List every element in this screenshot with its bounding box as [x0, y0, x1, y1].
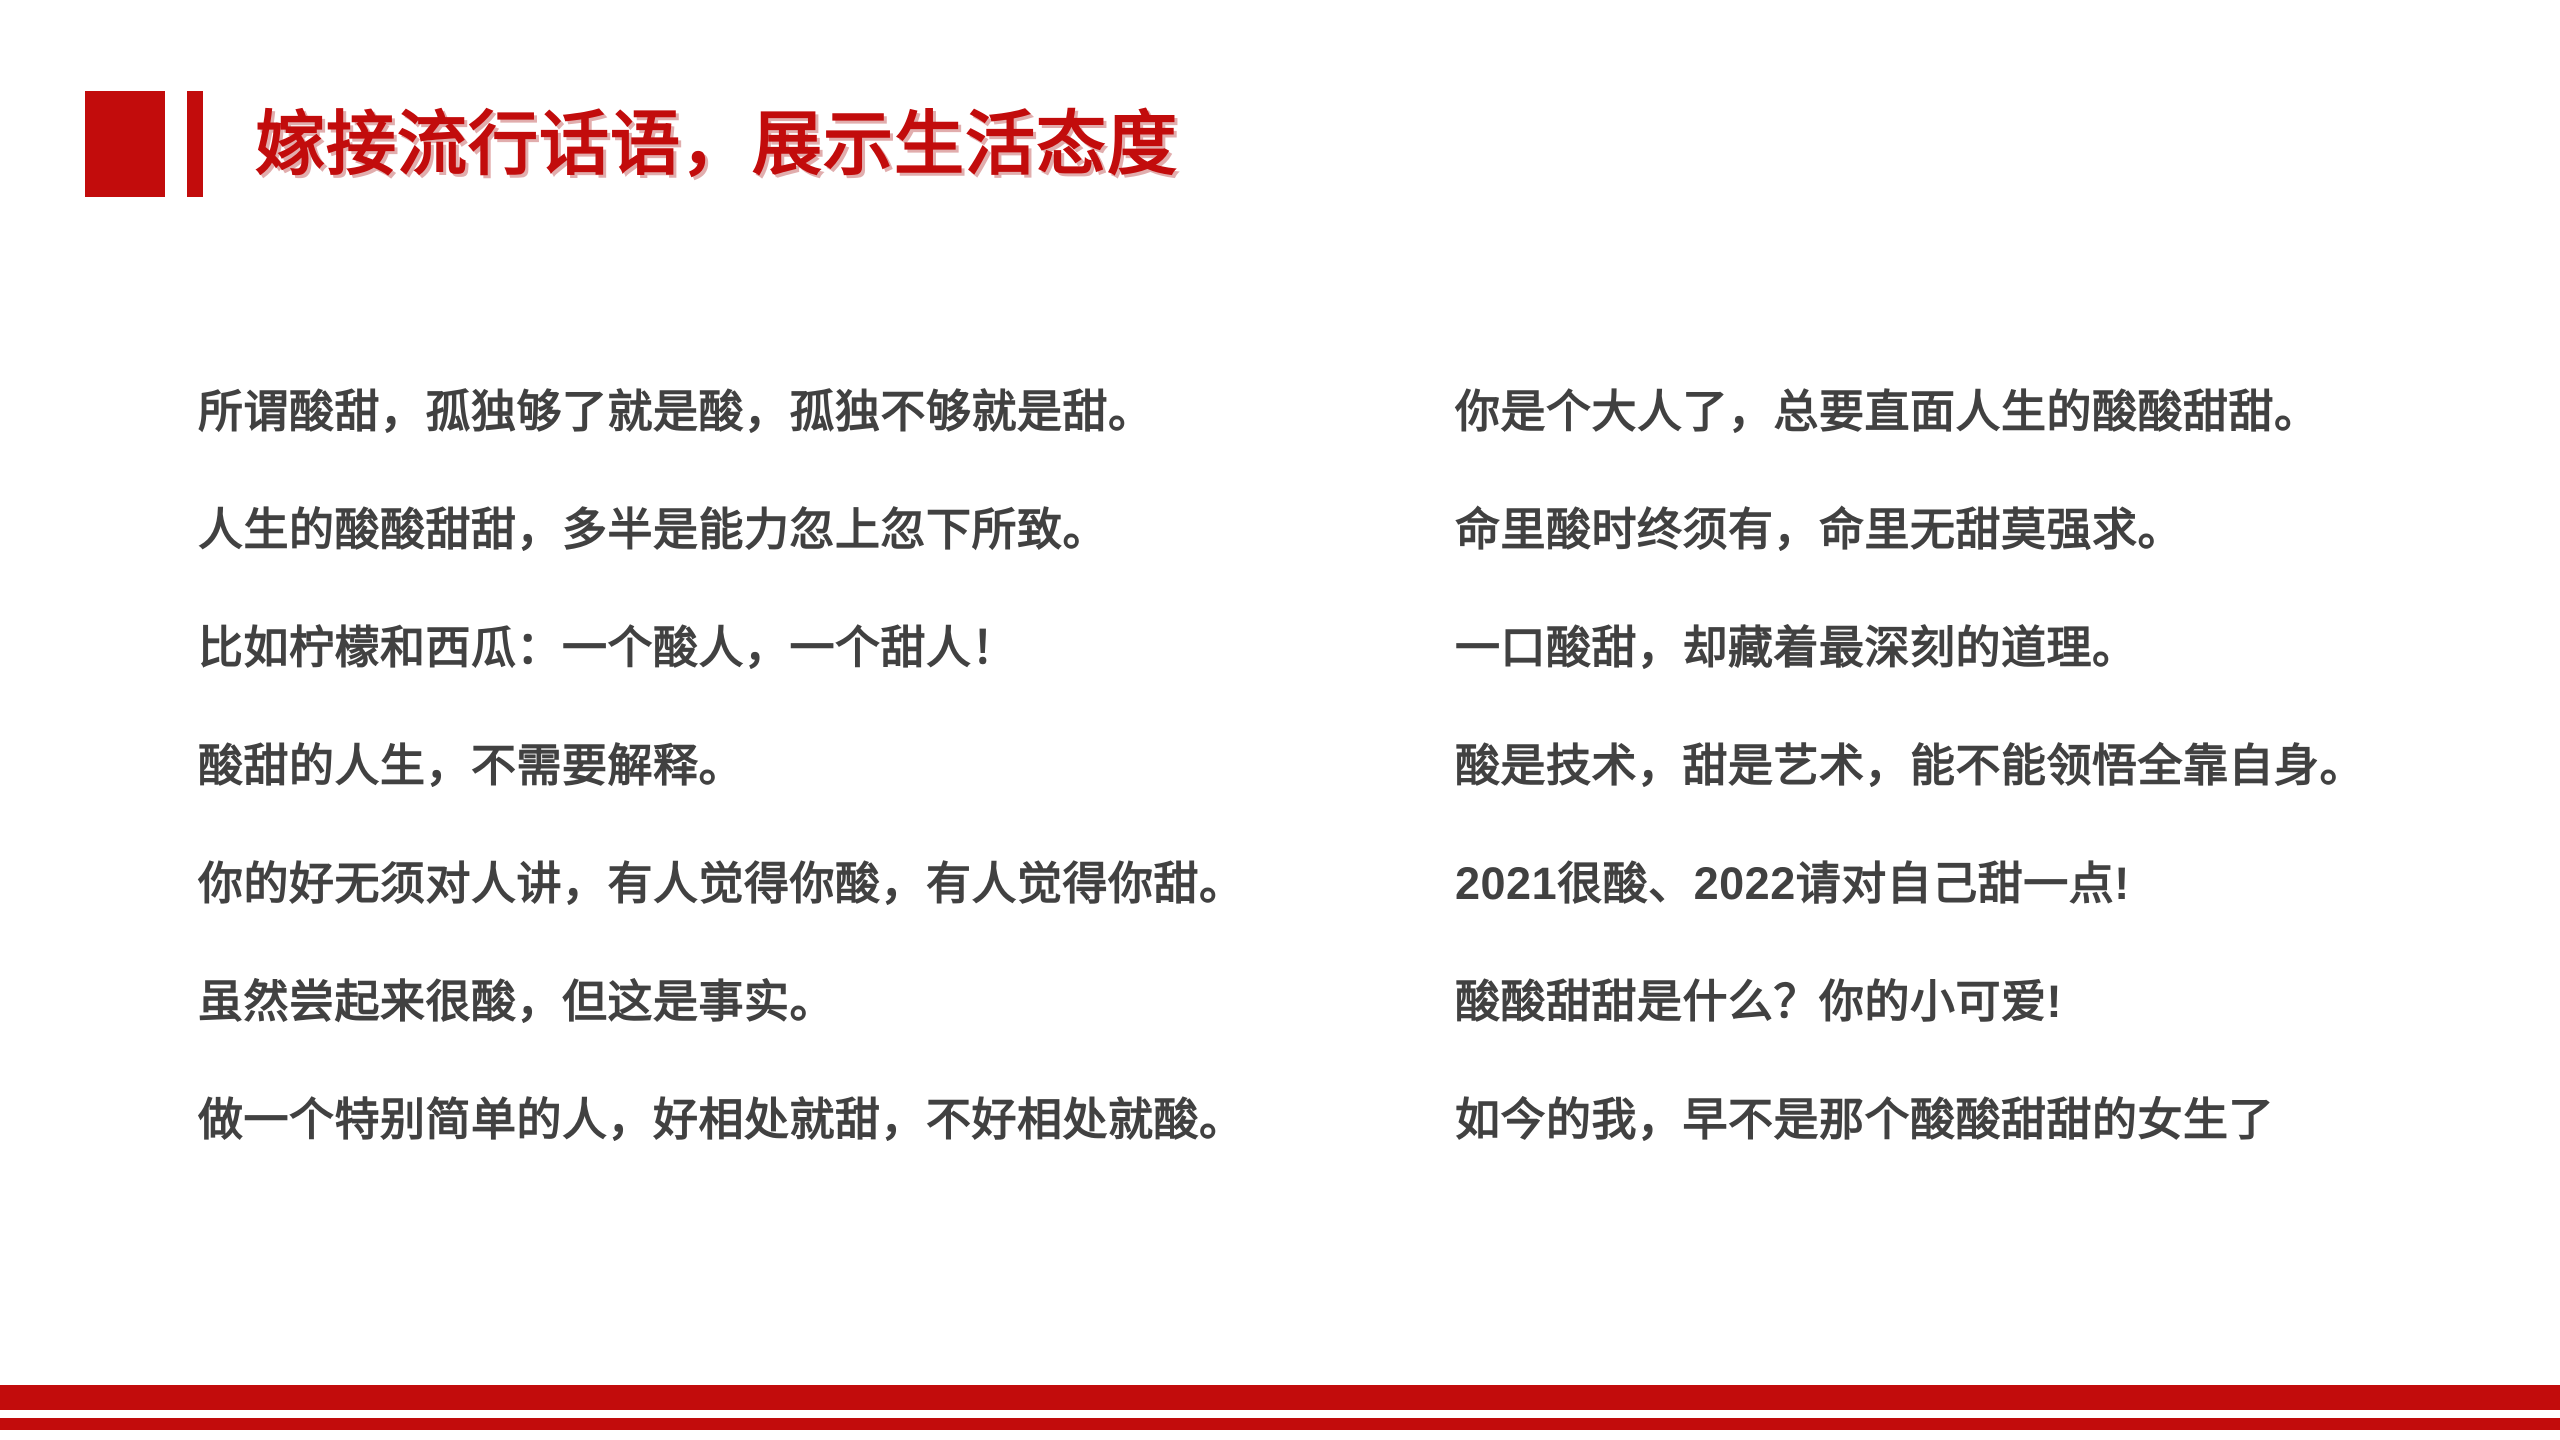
list-item: 所谓酸甜，孤独够了就是酸，孤独不够就是甜。 [198, 352, 1388, 470]
list-item: 人生的酸酸甜甜，多半是能力忽上忽下所致。 [198, 470, 1388, 588]
list-item: 你的好无须对人讲，有人觉得你酸，有人觉得你甜。 [198, 824, 1388, 942]
slide-header: 嫁接流行话语，展示生活态度 [0, 88, 2560, 200]
footer-bar-thick [0, 1385, 2560, 1410]
list-item: 做一个特别简单的人，好相处就甜，不好相处就酸。 [198, 1060, 1388, 1178]
list-item: 比如柠檬和西瓜：一个酸人，一个甜人！ [198, 588, 1388, 706]
title-marker-bar-icon [187, 91, 203, 197]
list-item: 一口酸甜，却藏着最深刻的道理。 [1455, 588, 2560, 706]
list-item: 酸是技术，甜是艺术，能不能领悟全靠自身。 [1455, 706, 2560, 824]
left-column: 所谓酸甜，孤独够了就是酸，孤独不够就是甜。 人生的酸酸甜甜，多半是能力忽上忽下所… [198, 352, 1388, 1182]
list-item: 酸酸甜甜是什么？你的小可爱! [1455, 942, 2560, 1060]
list-item: 酸甜的人生，不需要解释。 [198, 706, 1388, 824]
list-item: 如今的我，早不是那个酸酸甜甜的女生了 [1455, 1060, 2560, 1178]
list-item: 2021很酸、2022请对自己甜一点! [1455, 824, 2560, 942]
list-item: 虽然尝起来很酸，但这是事实。 [198, 942, 1388, 1060]
content-columns: 所谓酸甜，孤独够了就是酸，孤独不够就是甜。 人生的酸酸甜甜，多半是能力忽上忽下所… [0, 352, 2560, 1182]
list-item: 命里酸时终须有，命里无甜莫强求。 [1455, 470, 2560, 588]
right-column: 你是个大人了，总要直面人生的酸酸甜甜。 命里酸时终须有，命里无甜莫强求。 一口酸… [1455, 352, 2560, 1182]
list-item: 你是个大人了，总要直面人生的酸酸甜甜。 [1455, 352, 2560, 470]
footer-bar-thin [0, 1418, 2560, 1430]
title-marker-square-icon [85, 91, 165, 197]
slide-canvas: 嫁接流行话语，展示生活态度 所谓酸甜，孤独够了就是酸，孤独不够就是甜。 人生的酸… [0, 0, 2560, 1440]
page-title: 嫁接流行话语，展示生活态度 [255, 109, 1178, 179]
